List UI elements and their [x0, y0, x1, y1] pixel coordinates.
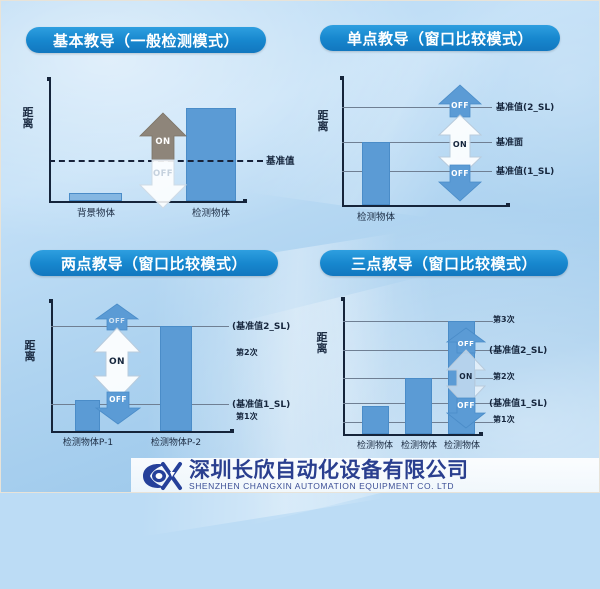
x-label-detect-object-p1: 检测物体P-1	[52, 435, 124, 448]
reference-label-teach-2: 第2次	[236, 347, 258, 358]
chart-one-point-teach: 距 离 OFF ON	[300, 60, 600, 230]
y-axis-arrowhead	[340, 76, 344, 80]
reference-label-1sl: (基准值1_SL)	[232, 397, 290, 410]
x-label-detect-object: 检测物体	[340, 209, 412, 223]
arrow-off-down: OFF	[140, 160, 186, 208]
arrow-off-down: OFF	[96, 392, 140, 424]
reference-label-teach-1: 第1次	[493, 414, 515, 425]
arrow-off-down-label: OFF	[447, 401, 485, 410]
reference-label-2sl: 基准值(2_SL)	[496, 100, 554, 113]
x-label-detect-object: 检测物体	[175, 205, 247, 219]
arrow-on-label: ON	[439, 140, 481, 149]
y-axis-label-char-2: 离	[314, 121, 332, 132]
arrow-off-down-label: OFF	[439, 169, 481, 178]
y-axis-label: 距 离	[313, 332, 331, 354]
panel-title-one-point-teach: 单点教导（窗口比较模式）	[320, 25, 560, 51]
arrow-on-label: ON	[447, 372, 485, 381]
y-axis-label-char-2: 离	[19, 118, 37, 129]
panel-basic-teach: 基本教导（一般检测模式） 距 离 基准值 ON	[0, 0, 300, 240]
chart-two-point-teach: 距 离 OFF ON	[0, 288, 300, 460]
x-axis-arrowhead	[230, 429, 234, 433]
y-axis	[51, 302, 53, 432]
panel-three-point-teach: 三点教导（窗口比较模式） 距 离 OFF	[300, 240, 600, 460]
y-axis-label-char-2: 离	[21, 351, 39, 362]
arrow-off-up-label: OFF	[96, 317, 138, 325]
arrow-on-up: ON	[140, 113, 186, 161]
arrow-off-down: OFF	[447, 398, 485, 428]
panel-one-point-teach: 单点教导（窗口比较模式） 距 离 OFF	[300, 0, 600, 240]
x-axis	[51, 431, 232, 433]
arrow-off-up: OFF	[96, 304, 138, 330]
arrow-on-label: ON	[94, 357, 140, 367]
panel-title-basic-teach: 基本教导（一般检测模式）	[26, 27, 266, 53]
y-axis-label: 距 离	[21, 340, 39, 362]
cx-swirl-logo-icon	[139, 460, 185, 492]
x-axis-arrowhead	[243, 199, 247, 203]
arrow-off-down: OFF	[439, 165, 481, 201]
reference-label-plane: 基准面	[496, 135, 523, 148]
reference-label-baseline: 基准值	[266, 153, 295, 167]
arrow-off-up-label: OFF	[439, 101, 481, 110]
panel-two-point-teach: 两点教导（窗口比较模式） 距 离 OFF	[0, 240, 300, 460]
chart-three-point-teach: 距 离 OFF ON	[300, 288, 600, 460]
company-name-cn: 深圳长欣自动化设备有限公司	[189, 459, 469, 481]
panel-title-two-point-teach: 两点教导（窗口比较模式）	[30, 250, 278, 276]
bar-background-object	[69, 193, 122, 201]
reference-label-teach-1: 第1次	[236, 411, 258, 422]
y-axis-label-char-2: 离	[313, 343, 331, 354]
y-axis-arrowhead	[341, 297, 345, 301]
arrow-off-down-label: OFF	[96, 395, 140, 404]
arrow-on-double: ON	[94, 328, 140, 400]
bar-detect-object-p2	[160, 326, 192, 431]
x-axis-arrowhead	[479, 432, 483, 436]
arrow-off-label: OFF	[140, 169, 186, 179]
x-axis	[342, 205, 508, 207]
y-axis-label: 距 离	[314, 110, 332, 132]
bar-detect-object-1	[362, 406, 389, 434]
arrow-on-label: ON	[140, 137, 186, 147]
reference-label-2sl: (基准值2_SL)	[489, 343, 547, 356]
y-axis-arrowhead	[49, 299, 53, 303]
reference-label-1sl: 基准值(1_SL)	[496, 164, 554, 177]
arrow-off-up-label: OFF	[447, 340, 485, 348]
footer-company-text: 深圳长欣自动化设备有限公司 SHENZHEN CHANGXIN AUTOMATI…	[189, 459, 469, 492]
company-name-en: SHENZHEN CHANGXIN AUTOMATION EQUIPMENT C…	[189, 481, 469, 492]
reference-label-teach-2: 第2次	[493, 371, 515, 382]
reference-label-2sl: (基准值2_SL)	[232, 319, 290, 332]
x-label-background-object: 背景物体	[60, 205, 132, 219]
bar-detect-object	[186, 108, 236, 201]
x-axis-arrowhead	[506, 203, 510, 207]
reference-label-teach-3: 第3次	[493, 314, 515, 325]
chart-basic-teach: 距 离 基准值 ON OFF 背景物体 检测物体	[0, 60, 300, 230]
y-axis-arrowhead	[47, 77, 51, 81]
arrow-off-up: OFF	[439, 85, 481, 117]
bar-detect-object	[362, 142, 390, 205]
reference-label-1sl: (基准值1_SL)	[489, 396, 547, 409]
y-axis-label: 距 离	[19, 107, 37, 129]
reference-line-2sl	[51, 326, 229, 327]
x-axis	[343, 434, 481, 436]
x-label-detect-object-p2: 检测物体P-2	[140, 435, 212, 448]
x-label-detect-object-3: 检测物体	[430, 438, 494, 451]
y-axis	[49, 80, 51, 202]
slide-canvas: 基本教导（一般检测模式） 距 离 基准值 ON	[0, 0, 600, 493]
bar-detect-object-2	[405, 378, 432, 434]
panel-title-three-point-teach: 三点教导（窗口比较模式）	[320, 250, 568, 276]
footer-watermark: 深圳长欣自动化设备有限公司 SHENZHEN CHANGXIN AUTOMATI…	[131, 458, 600, 493]
